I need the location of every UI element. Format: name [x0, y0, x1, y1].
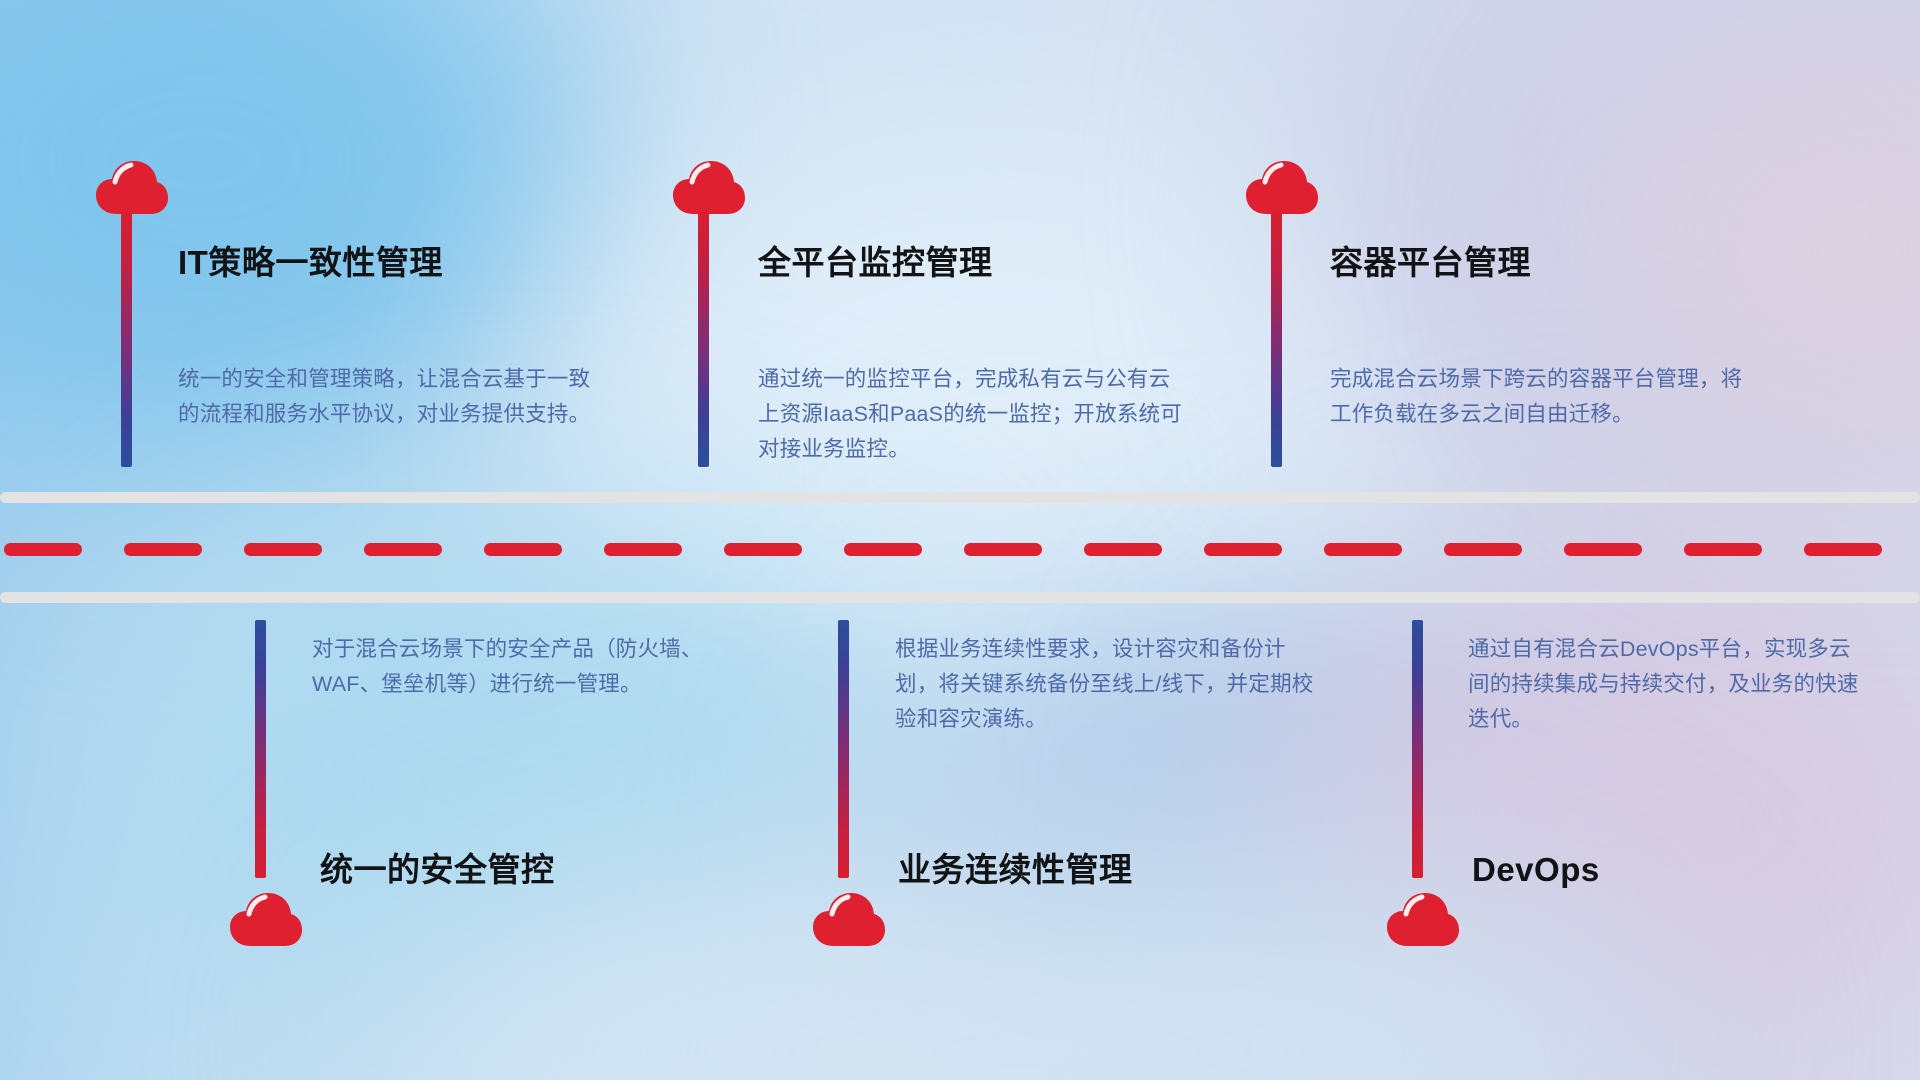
pin-stem: [1271, 212, 1282, 467]
road-dash-segment: [1324, 543, 1402, 556]
pin-stem: [838, 620, 849, 878]
heading-it-policy-consistency: IT策略一致性管理: [178, 245, 443, 281]
road-dash-segment: [604, 543, 682, 556]
road-line-top: [0, 492, 1920, 503]
cloud-icon: [812, 892, 886, 948]
road-dash-segment: [484, 543, 562, 556]
road-dash-segment: [244, 543, 322, 556]
heading-unified-security: 统一的安全管控: [320, 852, 555, 888]
body-business-continuity: 根据业务连续性要求，设计容灾和备份计划，将关键系统备份至线上/线下，并定期校验和…: [895, 632, 1315, 736]
road-dash-segment: [124, 543, 202, 556]
pin-stem: [1412, 620, 1423, 878]
heading-business-continuity: 业务连续性管理: [898, 852, 1133, 888]
road-dash-segment: [964, 543, 1042, 556]
pin-stem: [121, 212, 132, 467]
cloud-icon: [1245, 160, 1319, 216]
body-full-platform-monitoring: 通过统一的监控平台，完成私有云与公有云上资源IaaS和PaaS的统一监控；开放系…: [758, 362, 1188, 466]
body-it-policy-consistency: 统一的安全和管理策略，让混合云基于一致的流程和服务水平协议，对业务提供支持。: [178, 362, 598, 432]
cloud-icon: [1386, 892, 1460, 948]
road-dash-segment: [1804, 543, 1882, 556]
pin-stem: [255, 620, 266, 878]
body-container-platform: 完成混合云场景下跨云的容器平台管理，将工作负载在多云之间自由迁移。: [1330, 362, 1750, 432]
heading-devops: DevOps: [1472, 852, 1600, 888]
body-unified-security: 对于混合云场景下的安全产品（防火墙、WAF、堡垒机等）进行统一管理。: [312, 632, 732, 702]
road-dash-segment: [1564, 543, 1642, 556]
road-dash-segment: [1444, 543, 1522, 556]
cloud-icon: [672, 160, 746, 216]
road-dash-segment: [364, 543, 442, 556]
road-dash-segment: [724, 543, 802, 556]
road-dash-segment: [1684, 543, 1762, 556]
road-dash-segment: [1084, 543, 1162, 556]
heading-full-platform-monitoring: 全平台监控管理: [758, 245, 993, 281]
cloud-icon: [95, 160, 169, 216]
cloud-icon: [229, 892, 303, 948]
road-dash-segment: [844, 543, 922, 556]
body-devops: 通过自有混合云DevOps平台，实现多云间的持续集成与持续交付，及业务的快速迭代…: [1468, 632, 1868, 736]
infographic-canvas: IT策略一致性管理 统一的安全和管理策略，让混合云基于一致的流程和服务水平协议，…: [0, 0, 1920, 1080]
road-dashed-centerline: [0, 543, 1920, 556]
road-dash-segment: [1204, 543, 1282, 556]
heading-container-platform: 容器平台管理: [1330, 245, 1531, 281]
pin-stem: [698, 212, 709, 467]
road-line-bottom: [0, 592, 1920, 603]
road-dash-segment: [4, 543, 82, 556]
